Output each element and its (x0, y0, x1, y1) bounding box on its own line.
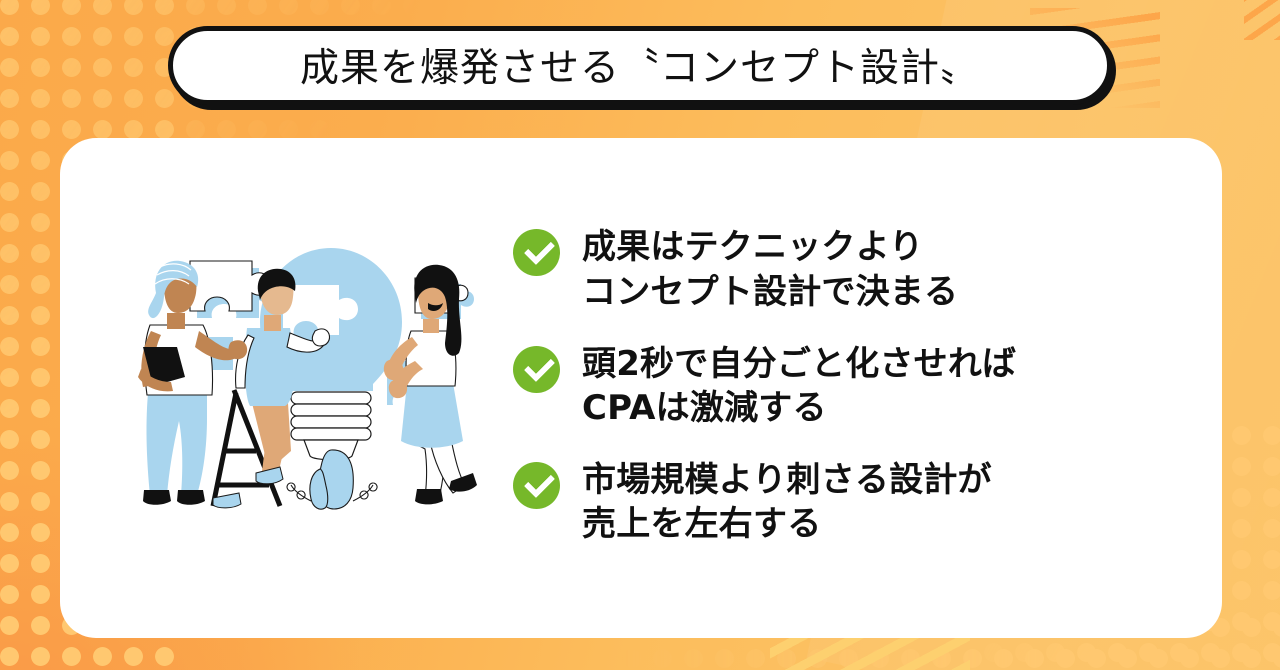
bullet-text: 市場規模より刺さる設計が 売上を左右する (582, 458, 992, 546)
check-circle-icon (513, 229, 560, 276)
plant-icon (287, 450, 377, 509)
bullet-list: 成果はテクニックより コンセプト設計で決まる 頭2秒で自分ごと化させれば CPA… (485, 225, 1222, 546)
list-item: 市場規模より刺さる設計が 売上を左右する (513, 458, 1202, 546)
page-title: 成果を爆発させる〝コンセプト設計〟 (300, 37, 980, 93)
teamwork-puzzle-lightbulb-illustration (115, 243, 485, 533)
diagonal-stripes-corner (1244, 0, 1280, 40)
title-pill: 成果を爆発させる〝コンセプト設計〟 (168, 26, 1112, 105)
list-item: 成果はテクニックより コンセプト設計で決まる (513, 225, 1202, 313)
bullet-text: 頭2秒で自分ごと化させれば CPAは激減する (582, 342, 1016, 430)
content-card: 成果はテクニックより コンセプト設計で決まる 頭2秒で自分ごと化させれば CPA… (60, 138, 1222, 638)
check-circle-icon (513, 346, 560, 393)
list-item: 頭2秒で自分ごと化させれば CPAは激減する (513, 342, 1202, 430)
check-circle-icon (513, 462, 560, 509)
bullet-text: 成果はテクニックより コンセプト設計で決まる (582, 225, 958, 313)
